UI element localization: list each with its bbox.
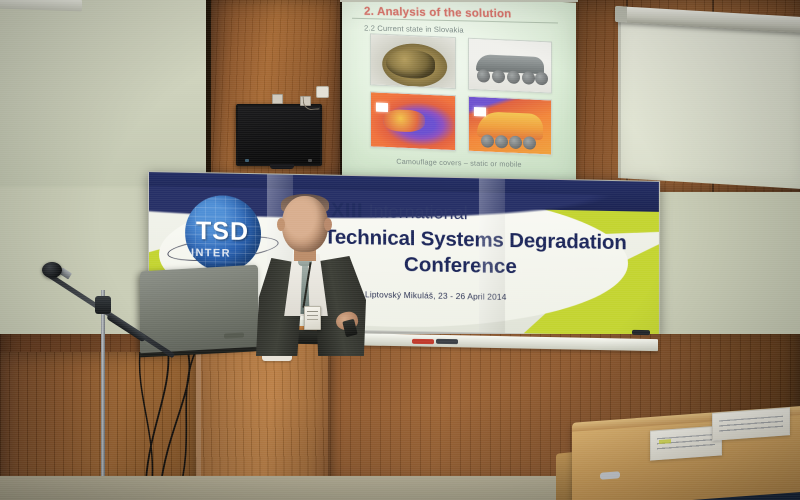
foreground-floor — [0, 476, 620, 500]
slide-image-grid — [370, 33, 550, 159]
microphone-stand-pole[interactable] — [101, 290, 105, 500]
roller-screen-right — [618, 18, 800, 189]
laptop-hinge — [224, 332, 244, 338]
wall-outlet[interactable] — [272, 94, 283, 104]
left-wall-painted — [0, 0, 206, 186]
roller-end-cap — [615, 6, 627, 23]
camouflaged-vehicle-photo — [370, 33, 456, 89]
desk-drawer-handle[interactable] — [600, 471, 620, 479]
handout-paper[interactable] — [712, 407, 790, 441]
paper-text-lines — [719, 416, 783, 435]
projection-screen: 2. Analysis of the solution 2.2 Current … — [342, 0, 576, 189]
dark-marker[interactable] — [436, 339, 458, 344]
ear-left — [277, 218, 285, 231]
red-marker[interactable] — [412, 339, 434, 344]
tsd-logo-text: TSD — [196, 217, 249, 247]
thermal-vehicle-wheels — [477, 133, 543, 150]
presentation-slide: 2. Analysis of the solution 2.2 Current … — [342, 0, 576, 189]
thermal-gradient — [371, 92, 455, 150]
black-marker[interactable] — [632, 330, 650, 335]
microphone-boom-clamp[interactable] — [95, 296, 111, 314]
vehicle-wheels — [477, 68, 543, 85]
monitor-power-led — [245, 159, 249, 162]
thermal-hotspot-marker — [474, 107, 486, 117]
lectern-edge-highlight — [196, 332, 201, 500]
tsd-logo-subtext: INTER — [191, 247, 231, 260]
projection-screen-case — [340, 0, 578, 2]
head — [282, 196, 328, 252]
thermal-image-vehicle — [468, 96, 552, 156]
laptop[interactable] — [140, 265, 258, 354]
armoured-vehicle-photo — [468, 38, 552, 94]
presenter — [258, 196, 366, 356]
ear-right — [324, 218, 332, 231]
monitor-stand — [270, 164, 294, 169]
microphone-head[interactable] — [42, 262, 62, 278]
banner-title-line2: Conference — [404, 253, 517, 279]
thermal-hotspot-marker — [376, 102, 388, 112]
banner-edition-suffix: International — [369, 201, 468, 223]
wall-monitor[interactable] — [236, 104, 322, 166]
conference-name-badge — [304, 306, 321, 330]
camouflage-net-shape — [371, 34, 455, 88]
thermal-image-camouflaged — [370, 91, 456, 151]
conference-photo-scene: 2. Analysis of the solution 2.2 Current … — [0, 0, 800, 500]
screen-edge — [618, 18, 621, 178]
monitor-button[interactable] — [308, 159, 312, 162]
